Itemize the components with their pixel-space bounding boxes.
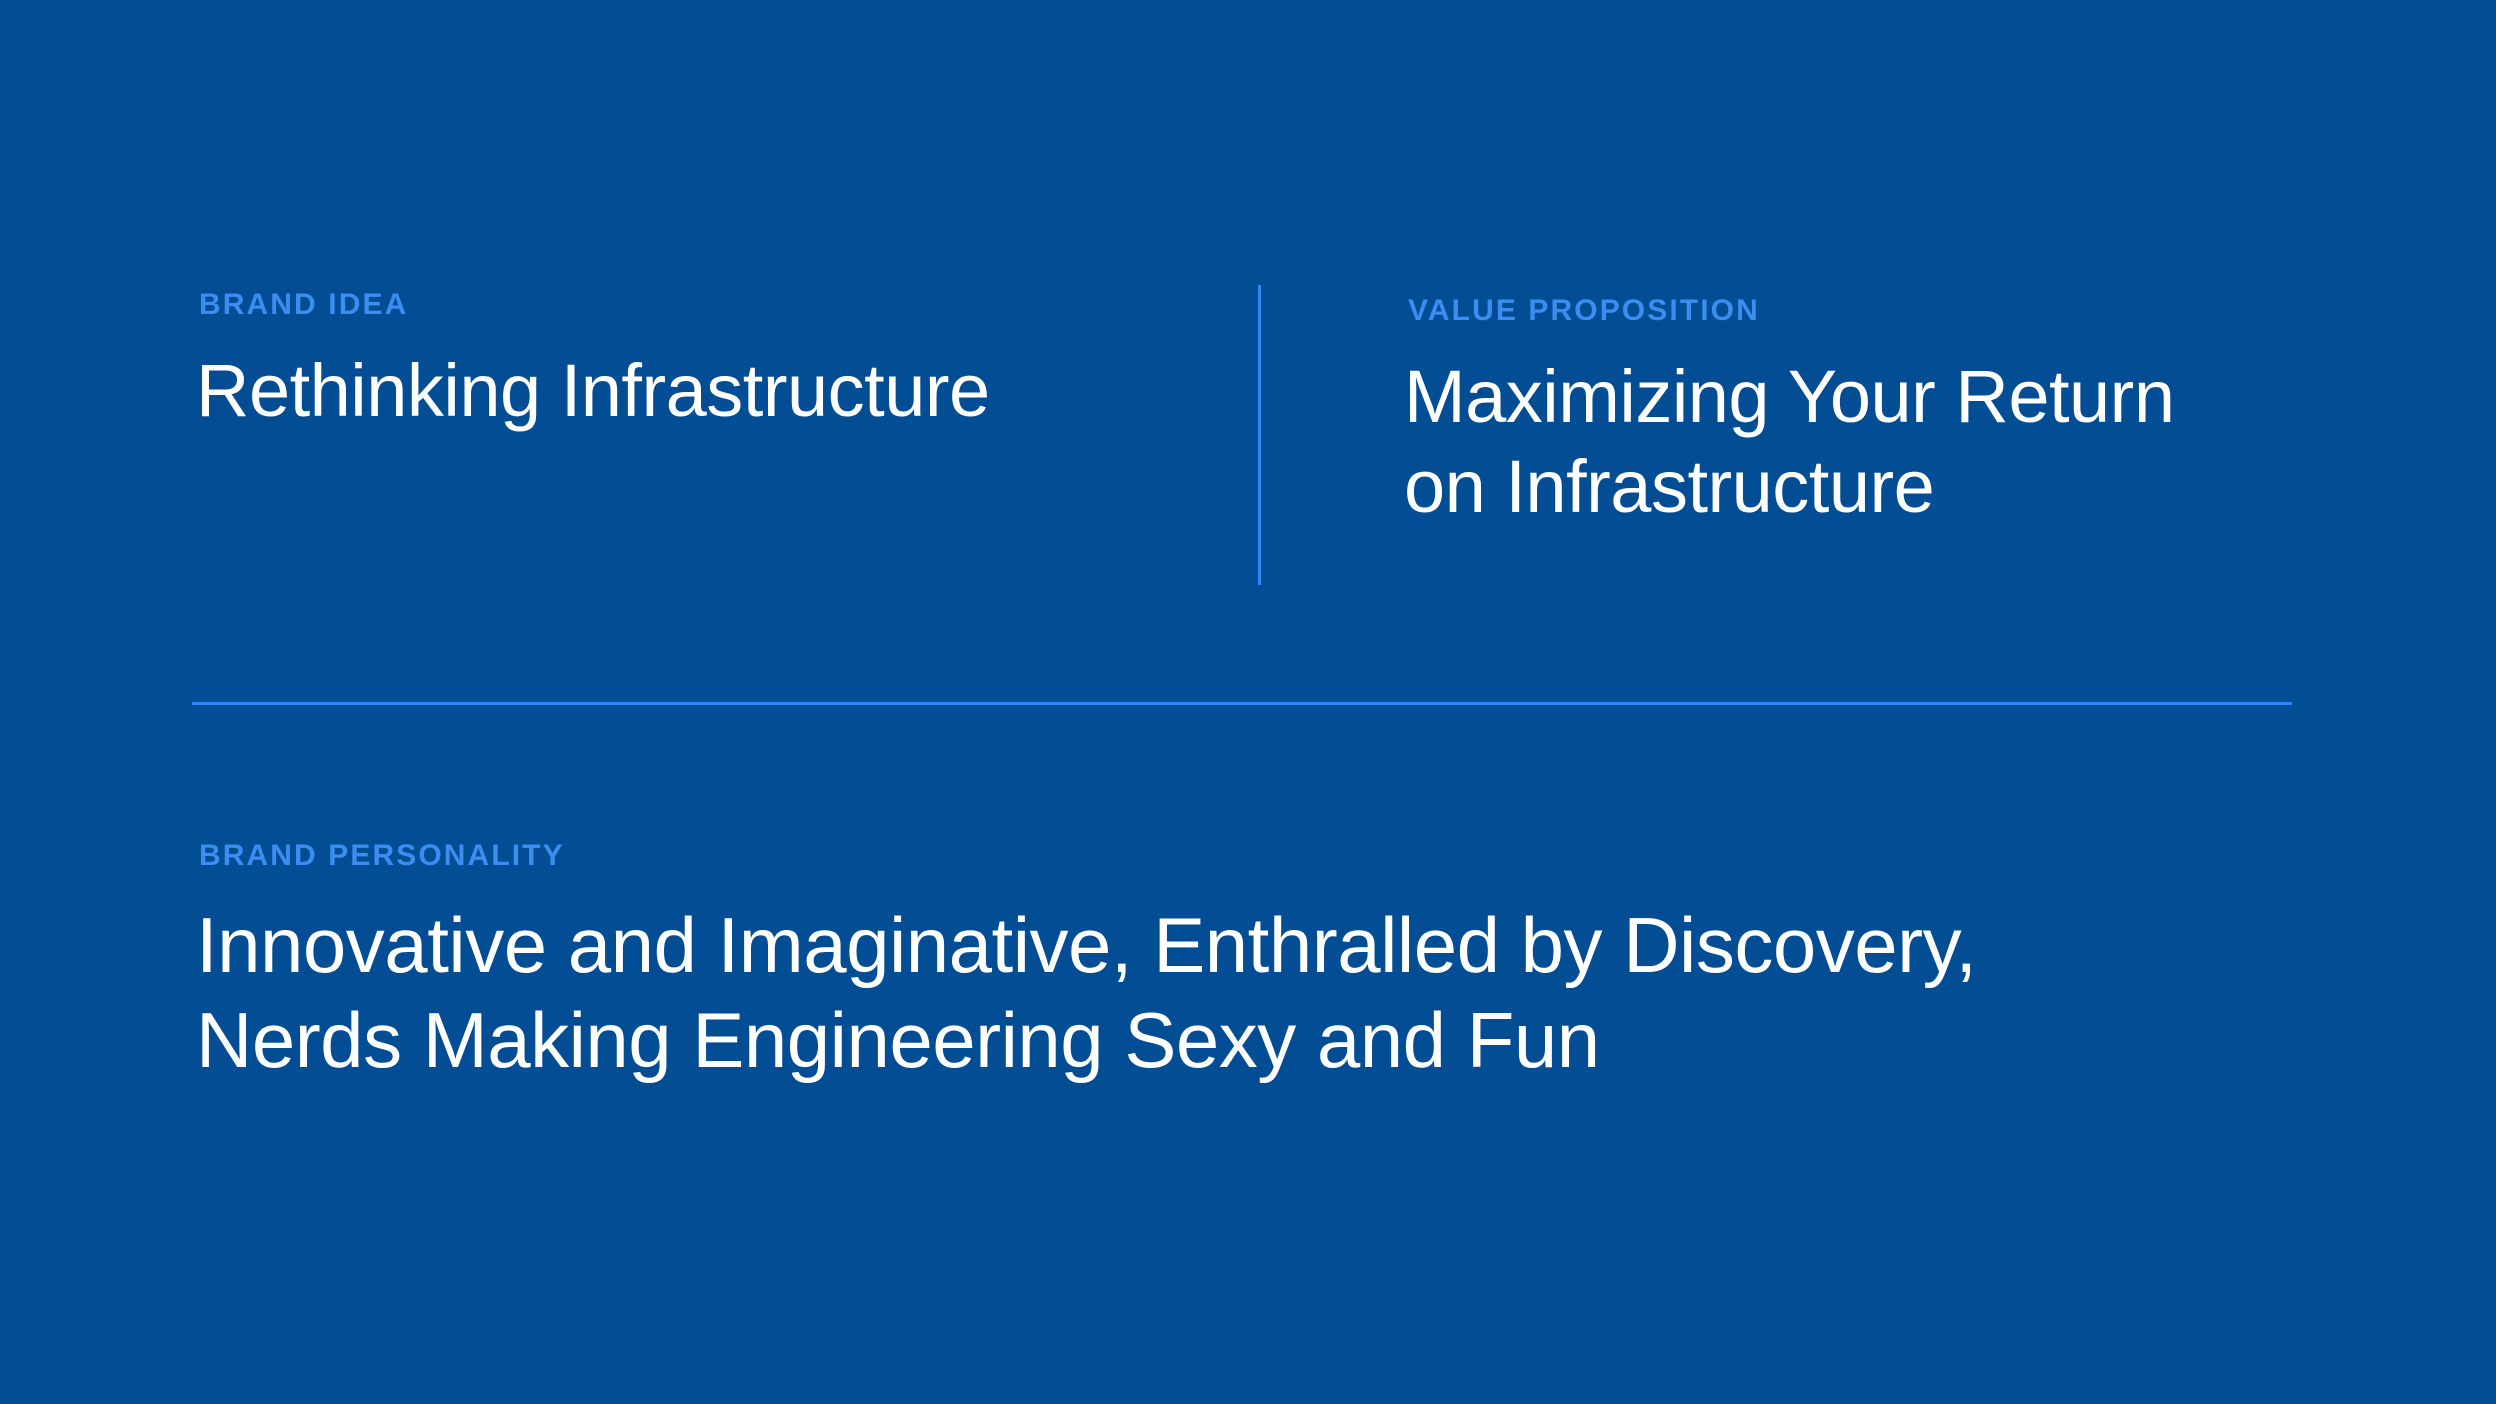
vertical-divider [1258, 285, 1261, 585]
brand-slide: BRAND IDEA Rethinking Infrastructure VAL… [0, 0, 2496, 1404]
value-proposition-kicker: VALUE PROPOSITION [1408, 296, 1760, 326]
horizontal-divider [192, 702, 2292, 705]
brand-idea-kicker: BRAND IDEA [199, 290, 408, 320]
brand-idea-headline: Rethinking Infrastructure [196, 346, 990, 436]
brand-personality-headline: Innovative and Imaginative, Enthralled b… [196, 898, 2376, 1088]
value-proposition-headline: Maximizing Your Return on Infrastructure [1404, 352, 2404, 533]
brand-personality-kicker: BRAND PERSONALITY [199, 841, 565, 871]
